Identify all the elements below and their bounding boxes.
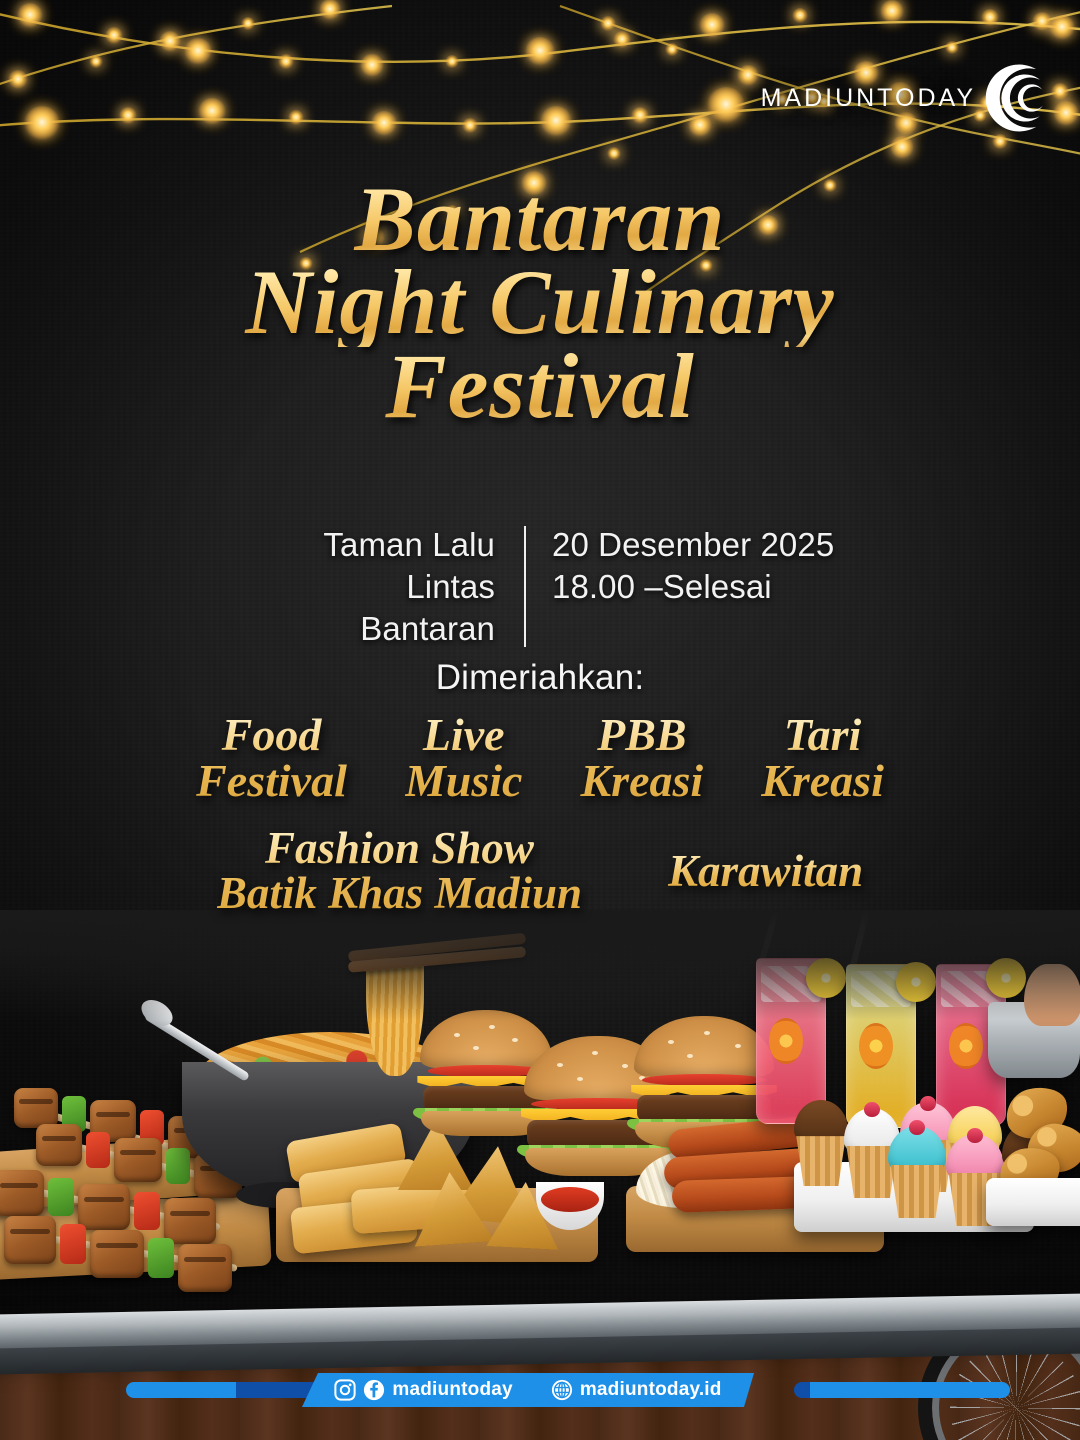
- lineup-item-line2: Kreasi: [580, 758, 703, 804]
- social-handle-group[interactable]: madiuntoday: [334, 1379, 512, 1401]
- brand-logo-text: MADIUNTODAY: [761, 84, 976, 113]
- lineup-item: Live Music: [405, 712, 523, 804]
- poster-root: MADIUNTODAY Bantaran Night Culinary Fest…: [0, 0, 1080, 1440]
- lineup-item-line1: Tari: [784, 709, 862, 760]
- event-time: 18.00 –Selesai: [552, 566, 846, 608]
- crescent-swoosh-icon: [976, 60, 1052, 136]
- website-text: madiuntoday.id: [580, 1379, 722, 1401]
- food-photo-band: [0, 910, 1080, 1440]
- lineup-item: Food Festival: [196, 712, 347, 804]
- website-group[interactable]: madiuntoday.id: [551, 1379, 722, 1401]
- title-line-3: Festival: [0, 343, 1080, 430]
- lineup-item-line2: Batik Khas Madiun: [217, 871, 582, 916]
- lineup-item: Tari Kreasi: [761, 712, 884, 804]
- event-date: 20 Desember 2025: [552, 524, 846, 566]
- footer-accent-segment: [126, 1382, 236, 1398]
- lineup-item-line1: Fashion Show: [265, 823, 534, 873]
- lineup-item-line1: PBB: [597, 709, 686, 760]
- event-info: Taman Lalu Lintas Bantaran 20 Desember 2…: [0, 524, 1080, 651]
- instagram-icon[interactable]: [334, 1379, 356, 1401]
- venue-line-2: Bantaran: [234, 608, 495, 650]
- facebook-icon[interactable]: [363, 1379, 385, 1401]
- event-title: Bantaran Night Culinary Festival: [0, 176, 1080, 430]
- lineup-item: Fashion Show Batik Khas Madiun: [217, 826, 582, 916]
- social-handle-text: madiuntoday: [392, 1379, 512, 1401]
- chicken-plate: [986, 1178, 1080, 1226]
- lineup-item: PBB Kreasi: [580, 712, 703, 804]
- footer-social-panel: madiuntoday madiuntoday.id: [302, 1373, 754, 1407]
- lineup-item-line1: Live: [423, 709, 505, 760]
- datetime-block: 20 Desember 2025 18.00 –Selesai: [526, 524, 846, 651]
- lineup-row-2: Fashion Show Batik Khas Madiun Karawitan: [0, 826, 1080, 916]
- venue-block: Taman Lalu Lintas Bantaran: [234, 524, 524, 651]
- lineup-item-line1: Karawitan: [668, 846, 863, 896]
- lineup-item-line2: Festival: [196, 758, 347, 804]
- lineup-list: Food Festival Live Music PBB Kreasi Tari…: [0, 712, 1080, 916]
- lineup-item: Karawitan: [668, 849, 863, 894]
- globe-icon[interactable]: [551, 1379, 573, 1401]
- title-line-1: Bantaran: [0, 176, 1080, 263]
- lineup-item-line2: Kreasi: [761, 758, 884, 804]
- lineup-item-line2: Music: [405, 758, 523, 804]
- lineup-row-1: Food Festival Live Music PBB Kreasi Tari…: [0, 712, 1080, 804]
- title-line-2: Night Culinary: [0, 259, 1080, 346]
- lineup-heading: Dimeriahkan:: [0, 658, 1080, 698]
- brand-logo: MADIUNTODAY: [761, 60, 1052, 136]
- food-band-fade: [0, 910, 1080, 1020]
- footer-bar: madiuntoday madiuntoday.id: [0, 1373, 1080, 1407]
- lineup-item-line1: Food: [222, 709, 322, 760]
- venue-line-1: Taman Lalu Lintas: [234, 524, 495, 608]
- footer-accent-segment: [810, 1382, 1010, 1398]
